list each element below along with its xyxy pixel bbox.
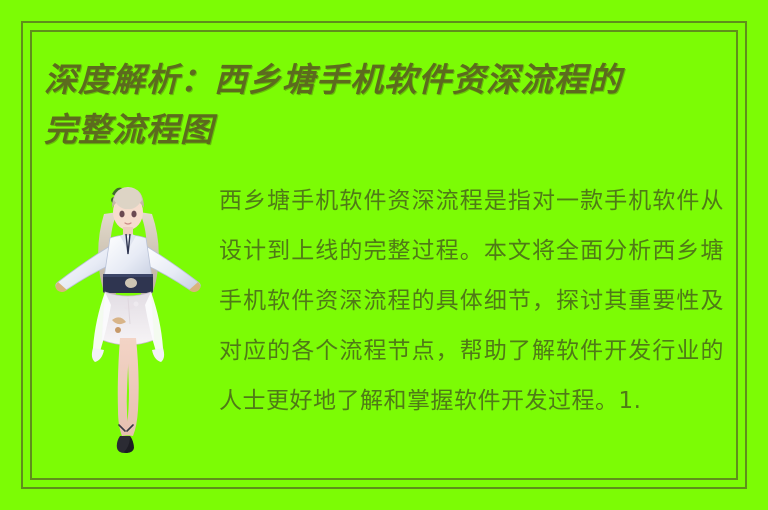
page-title: 深度解析：西乡塘手机软件资深流程的 完整流程图 [44,55,724,155]
article-body: 西乡塘手机软件资深流程是指对一款手机软件从设计到上线的完整过程。本文将全面分析西… [219,176,724,476]
article-card: 深度解析：西乡塘手机软件资深流程的 完整流程图 [0,0,768,510]
anime-girl-hanfu-illustration [52,178,204,470]
